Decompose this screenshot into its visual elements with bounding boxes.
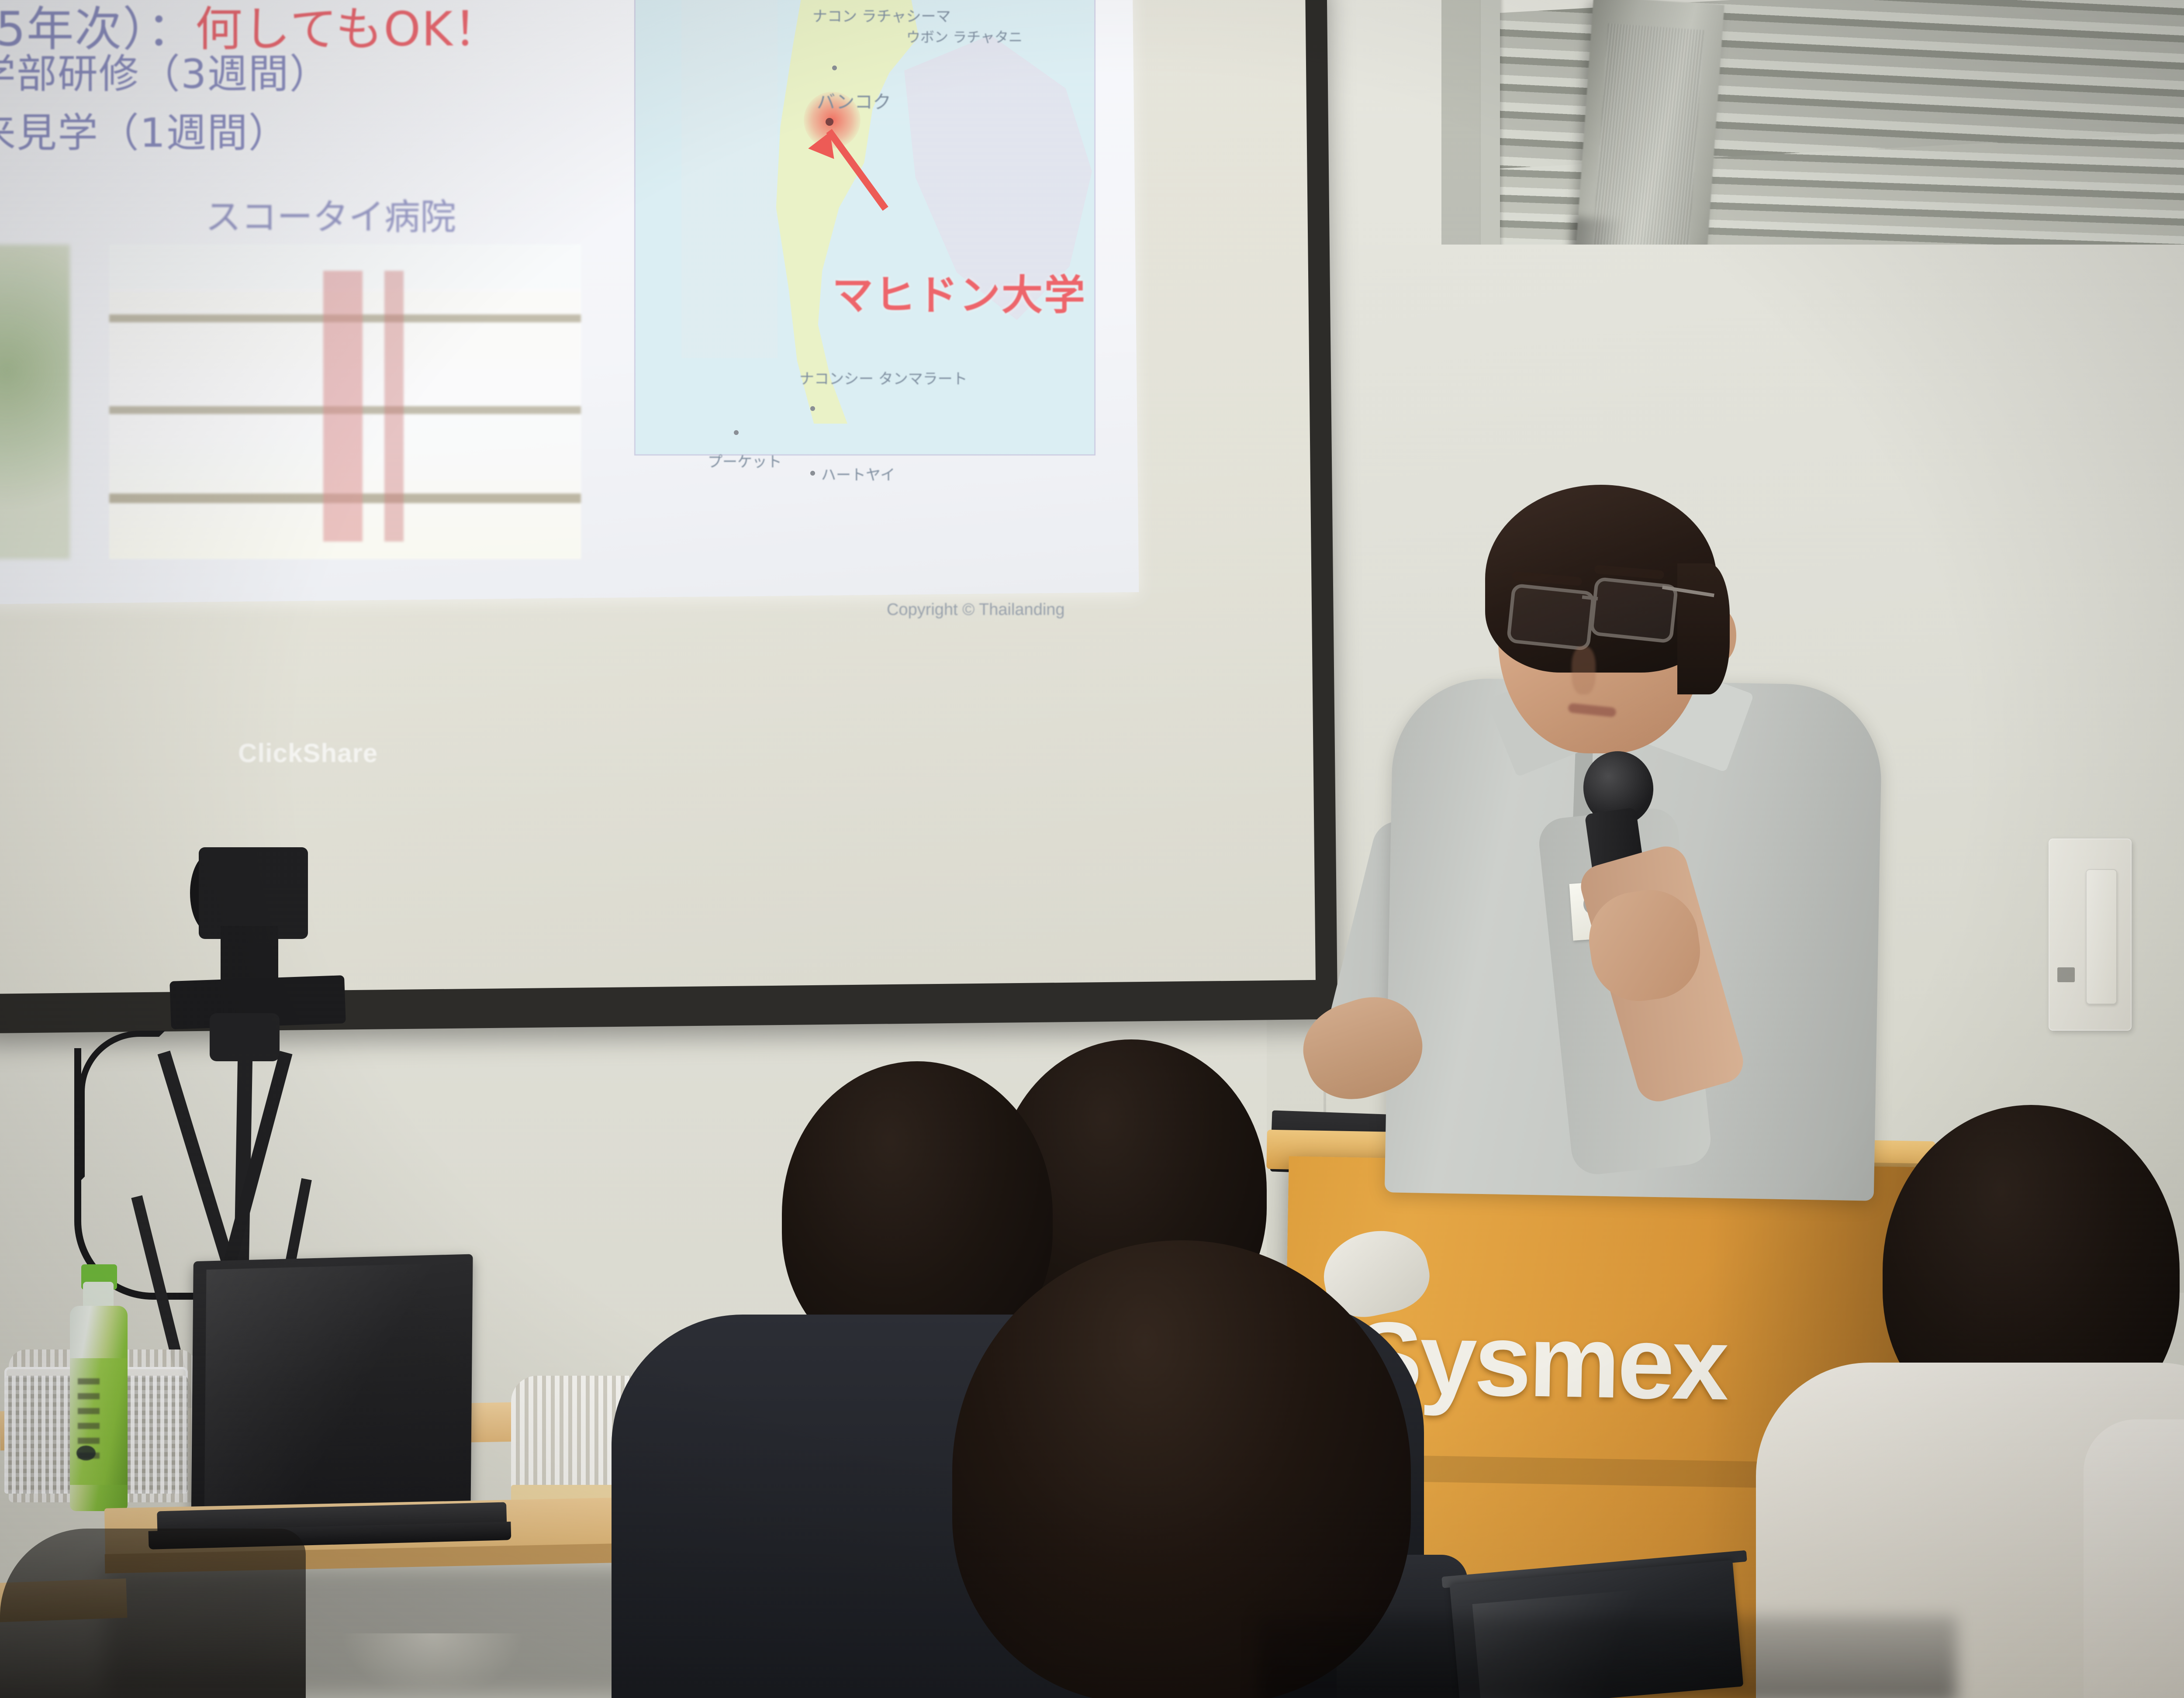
map-copyright-notice: Copyright © Thailanding [887,601,1065,619]
map-label-bangkok: バンコク [817,87,891,114]
slide-foliage [0,245,70,559]
map-label-mahidol-university: マヒドン大学 [832,262,1086,321]
map-label-ubon-ratchathani: ウボン ラチャタニ [906,26,1023,46]
map-bangkok-marker [826,118,833,126]
laptop-lid-reflection [204,1263,451,1515]
map-label-nakhon-ratchasima: ナコン ラチャシーマ [812,4,950,26]
ceiling-frame-rail [1481,0,1500,284]
tripod-leg [219,1051,293,1282]
video-camera-head[interactable] [199,847,308,939]
map-neighbor-west [681,0,778,358]
hospital-column-secondary [384,271,404,542]
clickshare-watermark: ClickShare [238,738,378,768]
hospital-column [323,271,363,542]
map-city-dot-nakhonsi [810,406,815,411]
map-label-nakhon-si-thammarat: ナコンシー タンマラート [799,367,968,388]
presenter-nose [1572,646,1596,694]
tea-bottle-label-mark [76,1446,96,1460]
foreground-shadow [0,1529,306,1698]
eyeglasses-left-lens [1506,583,1595,651]
audience-shoulder [2084,1419,2184,1698]
slide-photo-caption: スコータイ病院 [205,188,456,240]
photo-scene: （5年次）：何してもOK！ 医学部研修（3週間） 外来見学（1週間） スコータイ… [0,0,2184,1698]
map-city-dot-phuket [734,430,739,435]
map-label-phuket: プーケット [708,450,782,471]
chair-base-leg [341,1633,524,1698]
light-switch-label [2057,967,2075,982]
map-city-dot-hatyai [810,471,815,476]
slide-bullet-line-1: 医学部研修（3週間） [0,41,331,100]
light-switch-rocker[interactable] [2086,869,2117,1004]
map-label-hatyai: ハートヤイ [821,463,895,484]
map-city-dot-nakhon [832,66,837,70]
slide-bullet-line-2: 外来見学（1週間） [0,100,290,159]
podium-floor-shadow [1258,1616,1957,1698]
presenter-hair-side [1677,563,1730,694]
